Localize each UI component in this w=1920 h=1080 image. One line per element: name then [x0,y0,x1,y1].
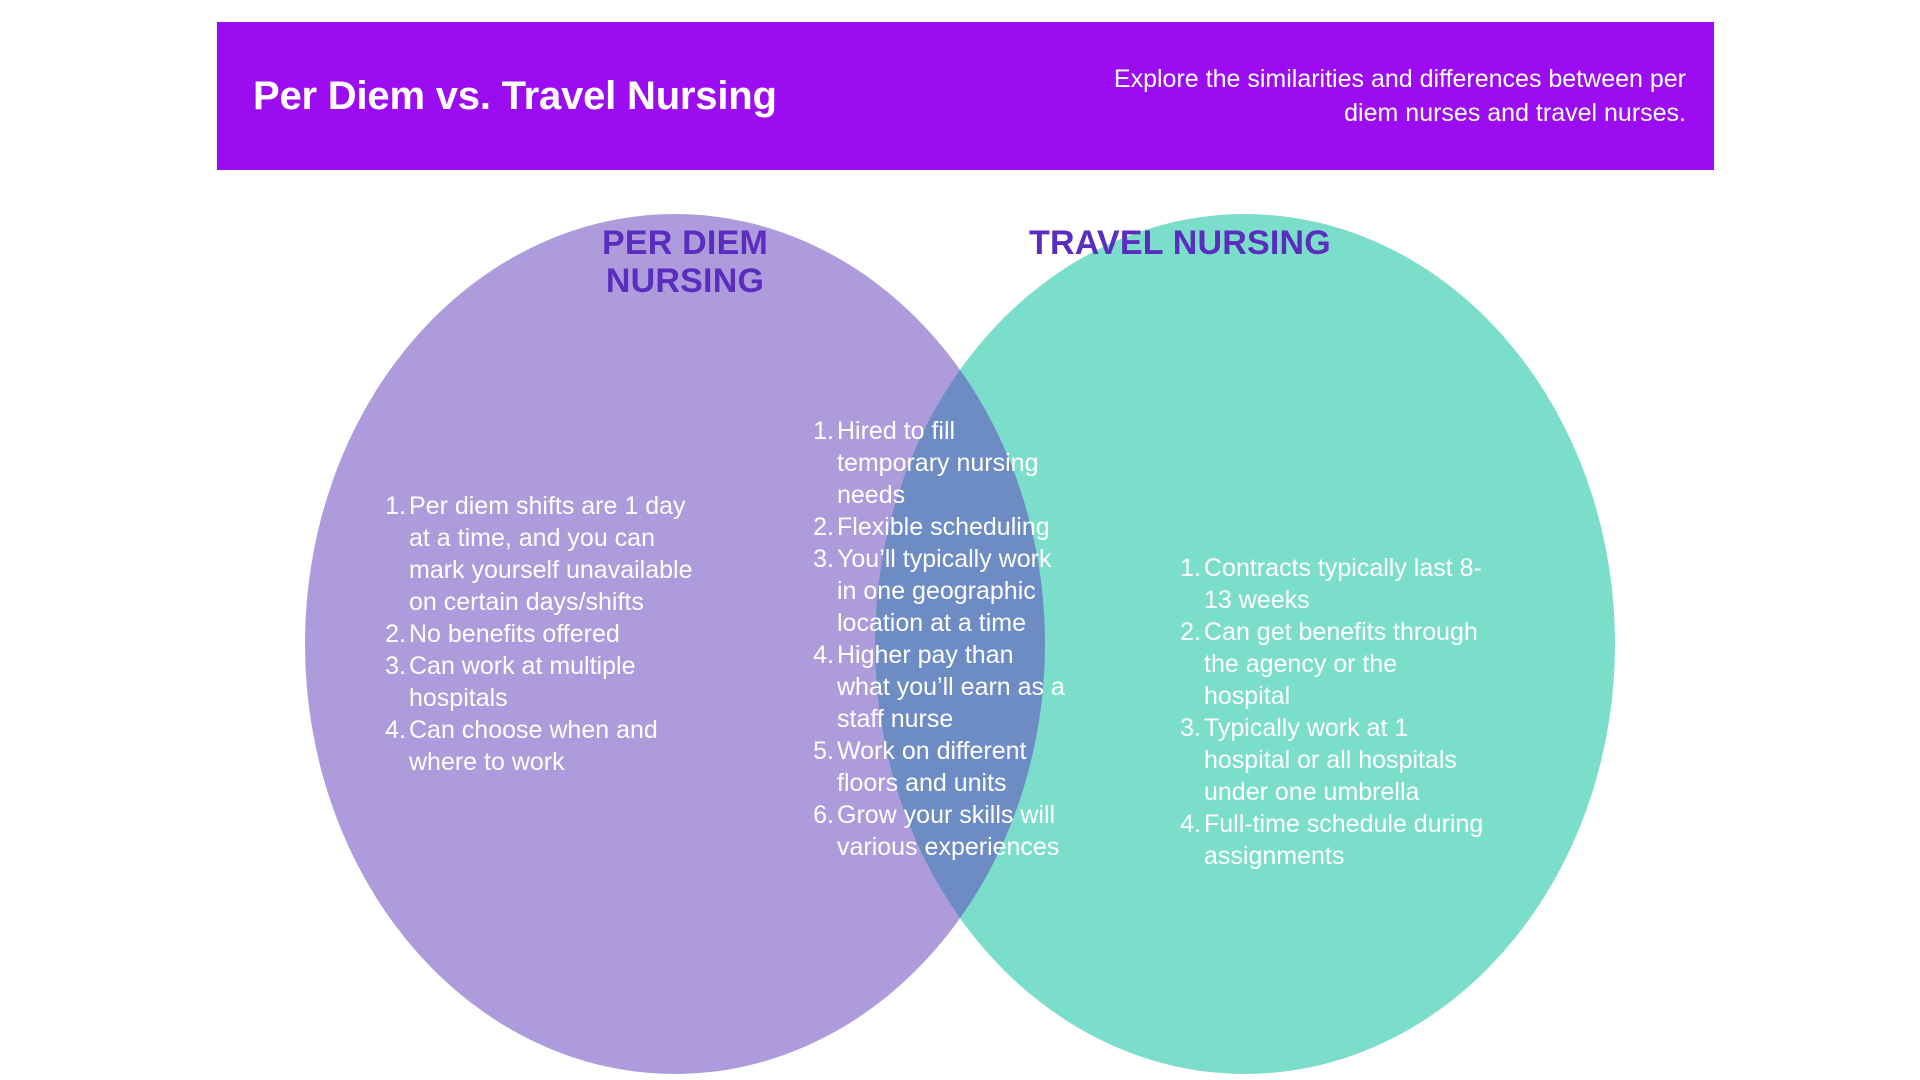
venn-right-list: 1.Contracts typically last 8-13 weeks2.C… [1175,552,1485,872]
venn-right-title: TRAVEL NURSING [1015,224,1345,262]
list-item-number: 5. [808,735,837,767]
list-item: 1.Hired to fill temporary nursing needs [808,415,1070,511]
list-item-text: No benefits offered [409,618,702,650]
list-item-text: Contracts typically last 8-13 weeks [1204,552,1485,616]
list-item: 5.Work on different floors and units [808,735,1070,799]
list-item-number: 2. [1175,616,1204,648]
list-item-number: 3. [808,543,837,575]
list-item-text: You’ll typically work in one geographic … [837,543,1070,639]
venn-diagram: PER DIEM NURSING TRAVEL NURSING 1.Per di… [0,170,1920,1080]
list-item-number: 2. [808,511,837,543]
list-item: 4.Full-time schedule during assignments [1175,808,1485,872]
list-item: 3.You’ll typically work in one geographi… [808,543,1070,639]
list-item-text: Can work at multiple hospitals [409,650,702,714]
list-item-text: Full-time schedule during assignments [1204,808,1485,872]
header-band: Per Diem vs. Travel Nursing Explore the … [217,22,1714,170]
list-item-text: Flexible scheduling [837,511,1070,543]
list-item: 4.Higher pay than what you’ll earn as a … [808,639,1070,735]
list-item-text: Grow your skills will various experience… [837,799,1070,863]
list-item: 3.Typically work at 1 hospital or all ho… [1175,712,1485,808]
list-item-number: 4. [380,714,409,746]
list-item: 2.No benefits offered [380,618,702,650]
list-item-text: Typically work at 1 hospital or all hosp… [1204,712,1485,808]
list-item-text: Hired to fill temporary nursing needs [837,415,1070,511]
list-item-text: Can choose when and where to work [409,714,702,778]
venn-overlap-list: 1.Hired to fill temporary nursing needs2… [808,415,1070,863]
list-item-number: 1. [808,415,837,447]
list-item-text: Can get benefits through the agency or t… [1204,616,1485,712]
list-item-number: 3. [380,650,409,682]
list-item: 1.Contracts typically last 8-13 weeks [1175,552,1485,616]
list-item-text: Higher pay than what you’ll earn as a st… [837,639,1070,735]
list-item: 2.Can get benefits through the agency or… [1175,616,1485,712]
list-item-number: 2. [380,618,409,650]
list-item-number: 6. [808,799,837,831]
page-subtitle: Explore the similarities and differences… [1086,62,1686,131]
page-title: Per Diem vs. Travel Nursing [253,74,777,118]
list-item-number: 1. [380,490,409,522]
list-item: 4.Can choose when and where to work [380,714,702,778]
venn-left-title: PER DIEM NURSING [520,224,850,300]
venn-left-list: 1.Per diem shifts are 1 day at a time, a… [380,490,702,778]
list-item-text: Per diem shifts are 1 day at a time, and… [409,490,702,618]
list-item-number: 4. [1175,808,1204,840]
list-item: 6.Grow your skills will various experien… [808,799,1070,863]
list-item-text: Work on different floors and units [837,735,1070,799]
list-item: 1.Per diem shifts are 1 day at a time, a… [380,490,702,618]
list-item-number: 1. [1175,552,1204,584]
list-item: 2.Flexible scheduling [808,511,1070,543]
list-item: 3.Can work at multiple hospitals [380,650,702,714]
list-item-number: 4. [808,639,837,671]
list-item-number: 3. [1175,712,1204,744]
